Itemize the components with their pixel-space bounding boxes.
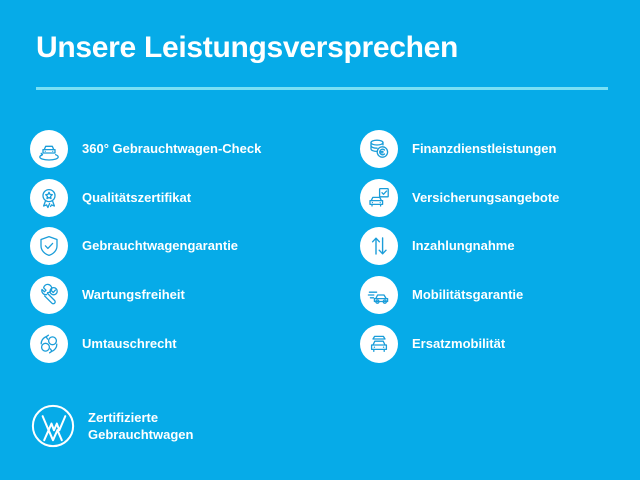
promise-item-versicherungsangebote[interactable]: Versicherungsangebote xyxy=(360,174,640,223)
promise-item-ersatzmobilitaet[interactable]: Ersatzmobilität xyxy=(360,319,640,368)
up-down-arrows-icon xyxy=(360,227,398,265)
promise-item-wartungsfreiheit[interactable]: Wartungsfreiheit xyxy=(30,271,310,320)
promise-label: Finanzdienstleistungen xyxy=(412,141,556,157)
promise-label: Umtauschrecht xyxy=(82,336,177,352)
promise-item-gebrauchtwagengarantie[interactable]: Gebrauchtwagengarantie xyxy=(30,222,310,271)
two-cars-icon xyxy=(360,325,398,363)
exchange-arrows-icon xyxy=(30,325,68,363)
car-document-icon xyxy=(360,179,398,217)
promise-item-finanzdienstleistungen[interactable]: Finanzdienstleistungen xyxy=(360,125,640,174)
promise-panel: Unsere Leistungsversprechen 360° Gebrauc… xyxy=(0,0,640,480)
promise-label: Mobilitätsgarantie xyxy=(412,287,523,303)
promise-item-gebrauchtwagen-check[interactable]: 360° Gebrauchtwagen-Check xyxy=(30,125,310,174)
shield-check-icon xyxy=(30,227,68,265)
brand-text: Zertifizierte Gebrauchtwagen xyxy=(88,409,193,443)
coins-euro-icon xyxy=(360,130,398,168)
quality-seal-icon xyxy=(30,179,68,217)
promise-item-mobilitaetsgarantie[interactable]: Mobilitätsgarantie xyxy=(360,271,640,320)
vw-logo-icon xyxy=(30,403,76,449)
promise-label: Inzahlungnahme xyxy=(412,238,515,254)
brand-text-line1: Zertifizierte xyxy=(88,410,158,425)
promise-column-right: Finanzdienstleistungen Versicherungsange… xyxy=(360,125,640,368)
promise-label: Ersatzmobilität xyxy=(412,336,505,352)
promise-label: 360° Gebrauchtwagen-Check xyxy=(82,141,261,157)
promise-label: Gebrauchtwagengarantie xyxy=(82,238,238,254)
promise-column-left: 360° Gebrauchtwagen-Check Qualitätszerti… xyxy=(30,125,310,368)
brand-text-line2: Gebrauchtwagen xyxy=(88,427,193,442)
car-speed-icon xyxy=(360,276,398,314)
promise-label: Wartungsfreiheit xyxy=(82,287,185,303)
car-360-check-icon xyxy=(30,130,68,168)
brand-lockup: Zertifizierte Gebrauchtwagen xyxy=(30,403,193,449)
promise-label: Versicherungsangebote xyxy=(412,190,559,206)
promise-label: Qualitätszertifikat xyxy=(82,190,191,206)
promise-item-qualitaetszertifikat[interactable]: Qualitätszertifikat xyxy=(30,174,310,223)
promise-item-umtauschrecht[interactable]: Umtauschrecht xyxy=(30,319,310,368)
wrench-check-icon xyxy=(30,276,68,314)
promise-item-inzahlungnahme[interactable]: Inzahlungnahme xyxy=(360,222,640,271)
